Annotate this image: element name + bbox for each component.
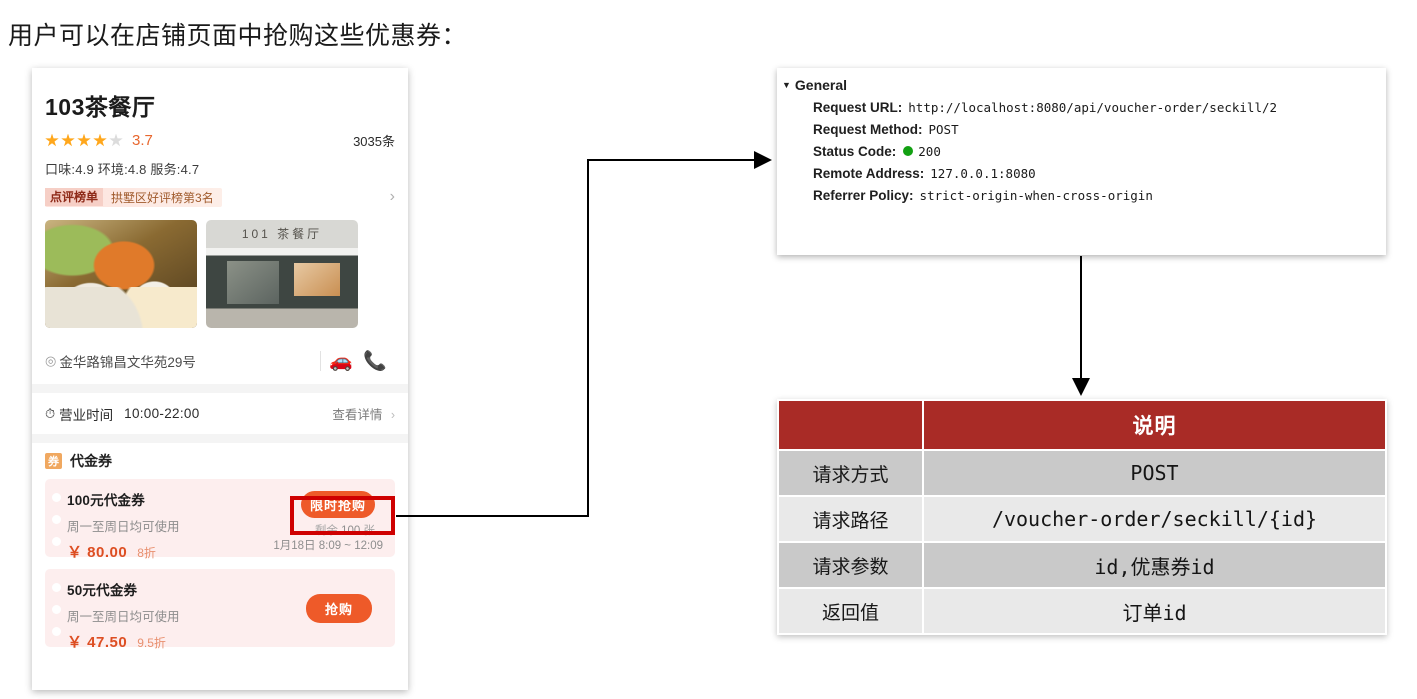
food-photo[interactable] — [45, 220, 197, 328]
star-icon — [77, 134, 91, 148]
header-blank-cell — [779, 401, 922, 449]
location-icon: ◎ — [45, 353, 56, 369]
punch-hole — [52, 493, 61, 502]
shop-name: 103茶餐厅 — [45, 88, 395, 122]
rating-row: 3.7 3035条 — [45, 131, 395, 150]
chevron-right-icon[interactable]: › — [390, 189, 395, 205]
star-icon — [109, 134, 123, 148]
address-text: 金华路锦昌文华苑29号 — [59, 351, 196, 371]
rank-text: 拱墅区好评榜第3名 — [111, 189, 214, 206]
storefront-photo[interactable]: 101 茶餐厅 — [206, 220, 358, 328]
coupon-item[interactable]: 50元代金券 周一至周日均可使用 ￥ 47.50 9.5折 抢购 — [45, 569, 395, 647]
address-row[interactable]: ◎ 金华路锦昌文华苑29号 🚗 📞 — [45, 338, 395, 384]
arrow-button-to-devtools — [396, 160, 768, 516]
rank-row[interactable]: 点评榜单 拱墅区好评榜第3名 › — [45, 187, 395, 207]
devtools-row: Request URL: http://localhost:8080/api/v… — [813, 100, 1386, 115]
punch-hole — [52, 605, 61, 614]
star-rating — [45, 134, 123, 148]
table-header-row: 说明 — [779, 401, 1385, 449]
phone-icon[interactable]: 📞 — [363, 352, 387, 371]
status-code-value: 200 — [918, 144, 941, 159]
spec-key-request-method: 请求方式 — [779, 451, 922, 495]
coupon-discount: 8折 — [137, 544, 156, 561]
shop-card: 103茶餐厅 3.7 3035条 口味:4.9 环境:4.8 服务:4.7 点评… — [32, 68, 408, 690]
view-details-label: 查看详情 — [332, 408, 382, 422]
remote-address-value: 127.0.0.1:8080 — [930, 166, 1035, 181]
devtools-row: Status Code: 200 — [813, 144, 1386, 159]
storefront-sign-text: 101 茶餐厅 — [206, 225, 358, 242]
star-icon — [93, 134, 107, 148]
punch-hole — [52, 627, 61, 636]
request-url-key: Request URL: — [813, 100, 902, 115]
status-code-key: Status Code: — [813, 144, 896, 159]
clock-icon: ⏱ — [45, 406, 55, 422]
star-icon — [45, 134, 59, 148]
photo-gallery[interactable]: 101 茶餐厅 — [45, 220, 395, 328]
request-method-value: POST — [929, 122, 959, 137]
business-hours-label: 营业时间 — [59, 404, 113, 424]
table-row: 请求方式 POST — [779, 451, 1385, 495]
api-spec-table: 说明 请求方式 POST 请求路径 /voucher-order/seckill… — [777, 399, 1387, 635]
devtools-row: Remote Address: 127.0.0.1:8080 — [813, 166, 1386, 181]
coupon-time-window: 1月18日 8:09 ~ 12:09 — [273, 537, 383, 553]
rank-pill[interactable]: 点评榜单 拱墅区好评榜第3名 — [45, 188, 222, 207]
table-row: 请求参数 id,优惠券id — [779, 543, 1385, 587]
devtools-general-panel: ▼ General Request URL: http://localhost:… — [777, 68, 1386, 255]
page-title: 用户可以在店铺页面中抢购这些优惠券： — [8, 16, 467, 52]
request-method-key: Request Method: — [813, 122, 923, 137]
coupon-price: ￥ 47.50 — [67, 631, 127, 652]
chevron-right-icon: › — [391, 408, 395, 422]
header-description-cell: 说明 — [924, 401, 1385, 449]
divider — [32, 384, 408, 393]
coupon-price: ￥ 80.00 — [67, 541, 127, 562]
chevron-down-icon[interactable]: ▼ — [782, 80, 791, 90]
star-icon — [61, 134, 75, 148]
general-section-header[interactable]: ▼ General — [782, 77, 1386, 93]
review-count[interactable]: 3035条 — [353, 131, 395, 150]
buy-button[interactable]: 抢购 — [306, 594, 372, 623]
spec-value-request-params: id,优惠券id — [924, 543, 1385, 587]
table-row: 请求路径 /voucher-order/seckill/{id} — [779, 497, 1385, 541]
referrer-policy-key: Referrer Policy: — [813, 188, 914, 203]
business-hours-value: 10:00-22:00 — [124, 406, 199, 421]
spec-key-return-value: 返回值 — [779, 589, 922, 633]
highlight-annotation-box — [290, 496, 395, 535]
punch-hole — [52, 515, 61, 524]
divider — [32, 434, 408, 443]
spec-value-return-value: 订单id — [924, 589, 1385, 633]
spec-key-request-params: 请求参数 — [779, 543, 922, 587]
rank-tag-label: 点评榜单 — [45, 188, 103, 206]
punch-hole — [52, 583, 61, 592]
table-row: 返回值 订单id — [779, 589, 1385, 633]
coupon-discount: 9.5折 — [137, 634, 166, 651]
business-hours-row[interactable]: ⏱ 营业时间 10:00-22:00 查看详情 › — [45, 393, 395, 434]
rating-value: 3.7 — [132, 132, 153, 149]
voucher-section-title: 代金券 — [70, 451, 112, 471]
status-ok-icon — [903, 146, 913, 156]
view-details-link[interactable]: 查看详情 › — [332, 404, 395, 423]
voucher-section-header: 券 代金券 — [45, 443, 395, 479]
sub-scores: 口味:4.9 环境:4.8 服务:4.7 — [45, 159, 395, 178]
spec-value-request-path: /voucher-order/seckill/{id} — [924, 497, 1385, 541]
devtools-row: Referrer Policy: strict-origin-when-cros… — [813, 188, 1386, 203]
remote-address-key: Remote Address: — [813, 166, 924, 181]
referrer-policy-value: strict-origin-when-cross-origin — [920, 188, 1153, 203]
voucher-badge-icon: 券 — [45, 453, 62, 469]
spec-value-request-method: POST — [924, 451, 1385, 495]
punch-hole — [52, 537, 61, 546]
general-section-title: General — [795, 77, 847, 93]
spec-key-request-path: 请求路径 — [779, 497, 922, 541]
car-icon[interactable]: 🚗 — [329, 352, 353, 371]
request-url-value[interactable]: http://localhost:8080/api/voucher-order/… — [908, 100, 1277, 115]
devtools-row: Request Method: POST — [813, 122, 1386, 137]
